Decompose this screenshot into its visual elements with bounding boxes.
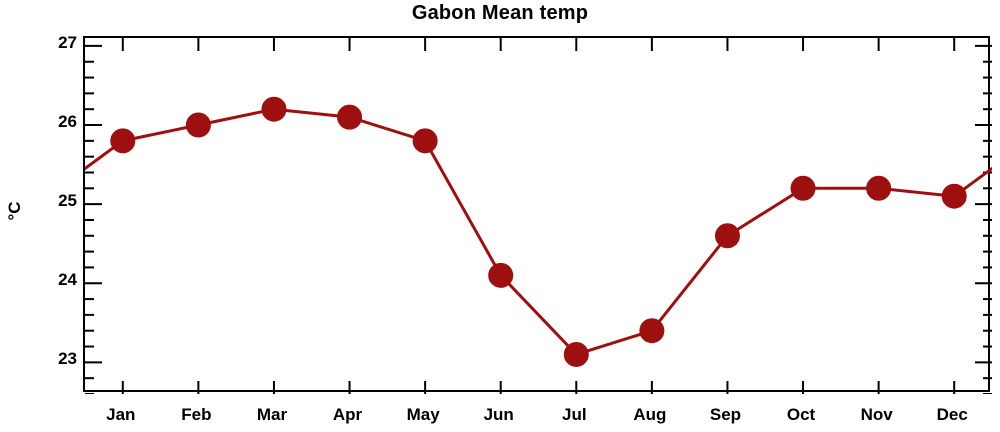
chart-title: Gabon Mean temp bbox=[0, 2, 1000, 25]
x-major-tick-marks bbox=[123, 38, 954, 394]
y-tick-label: 23 bbox=[31, 349, 77, 369]
y-axis-label-wrapper: °C bbox=[0, 186, 30, 246]
x-tick-label: Dec bbox=[907, 405, 997, 425]
series-line-path bbox=[85, 109, 992, 354]
series-data-markers bbox=[111, 97, 966, 366]
y-tick-label: 27 bbox=[31, 33, 77, 53]
chart-canvas: Gabon Mean temp °C 2324252627 JanFebMarA… bbox=[0, 0, 1000, 432]
y-minor-tick-marks bbox=[85, 62, 992, 394]
y-tick-label: 26 bbox=[31, 112, 77, 132]
y-tick-label: 25 bbox=[31, 191, 77, 211]
y-axis-label: °C bbox=[5, 181, 25, 241]
y-tick-label: 24 bbox=[31, 270, 77, 290]
plot-area bbox=[83, 36, 990, 392]
plot-svg bbox=[85, 38, 992, 394]
